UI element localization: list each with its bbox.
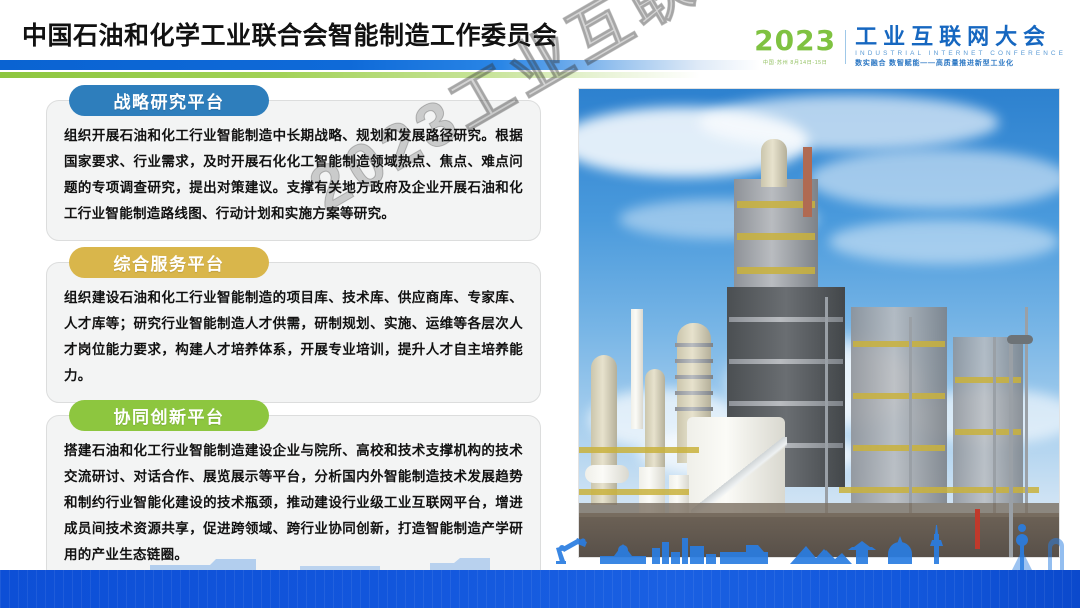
footer-blue-band <box>0 570 1080 608</box>
card-title-pill: 战略研究平台 <box>69 85 269 116</box>
card-title-pill: 综合服务平台 <box>69 247 269 278</box>
logo-chinese-name: 工业互联网大会 <box>855 26 1066 48</box>
header-rule-green <box>0 72 700 78</box>
logo-year-block: 2023 中国·苏州 8月14日-15日 <box>754 27 836 66</box>
logo-year: 2023 <box>754 27 836 55</box>
cloud-shape <box>699 95 999 150</box>
conference-logo: 2023 中国·苏州 8月14日-15日 工业互联网大会 INDUSTRIAL … <box>754 26 1066 67</box>
petrochemical-plant-photo <box>578 88 1060 558</box>
page-title: 中国石油和化学工业联合会智能制造工作委员会 <box>22 16 558 52</box>
plant-structures <box>579 297 1059 557</box>
header-rule-blue <box>0 60 760 70</box>
logo-english-name: INDUSTRIAL INTERNET CONFERENCE <box>855 51 1066 57</box>
cloud-shape <box>829 219 1059 264</box>
logo-text-block: 工业互联网大会 INDUSTRIAL INTERNET CONFERENCE 数… <box>855 26 1066 67</box>
footer-skyline-graphic <box>0 524 1080 570</box>
logo-meta: 中国·苏州 8月14日-15日 <box>754 59 836 66</box>
slide-canvas: 中国石油和化学工业联合会智能制造工作委员会 2023 中国·苏州 8月14日-1… <box>0 0 1080 608</box>
logo-slogan: 数实融合 数智赋能——高质量推进新型工业化 <box>855 60 1066 67</box>
cloud-shape <box>809 149 1060 209</box>
card-body-text: 组织建设石油和化工行业智能制造的项目库、技术库、供应商库、专家库、人才库等；研究… <box>64 285 523 389</box>
content-card-strategic-research: 战略研究平台 组织开展石油和化工行业智能制造中长期战略、规划和发展路径研究。根据… <box>46 100 541 241</box>
card-title-pill: 协同创新平台 <box>69 400 269 431</box>
logo-divider <box>845 30 846 64</box>
card-body-text: 组织开展石油和化工行业智能制造中长期战略、规划和发展路径研究。根据国家要求、行业… <box>64 123 523 227</box>
content-card-comprehensive-service: 综合服务平台 组织建设石油和化工行业智能制造的项目库、技术库、供应商库、专家库、… <box>46 262 541 403</box>
